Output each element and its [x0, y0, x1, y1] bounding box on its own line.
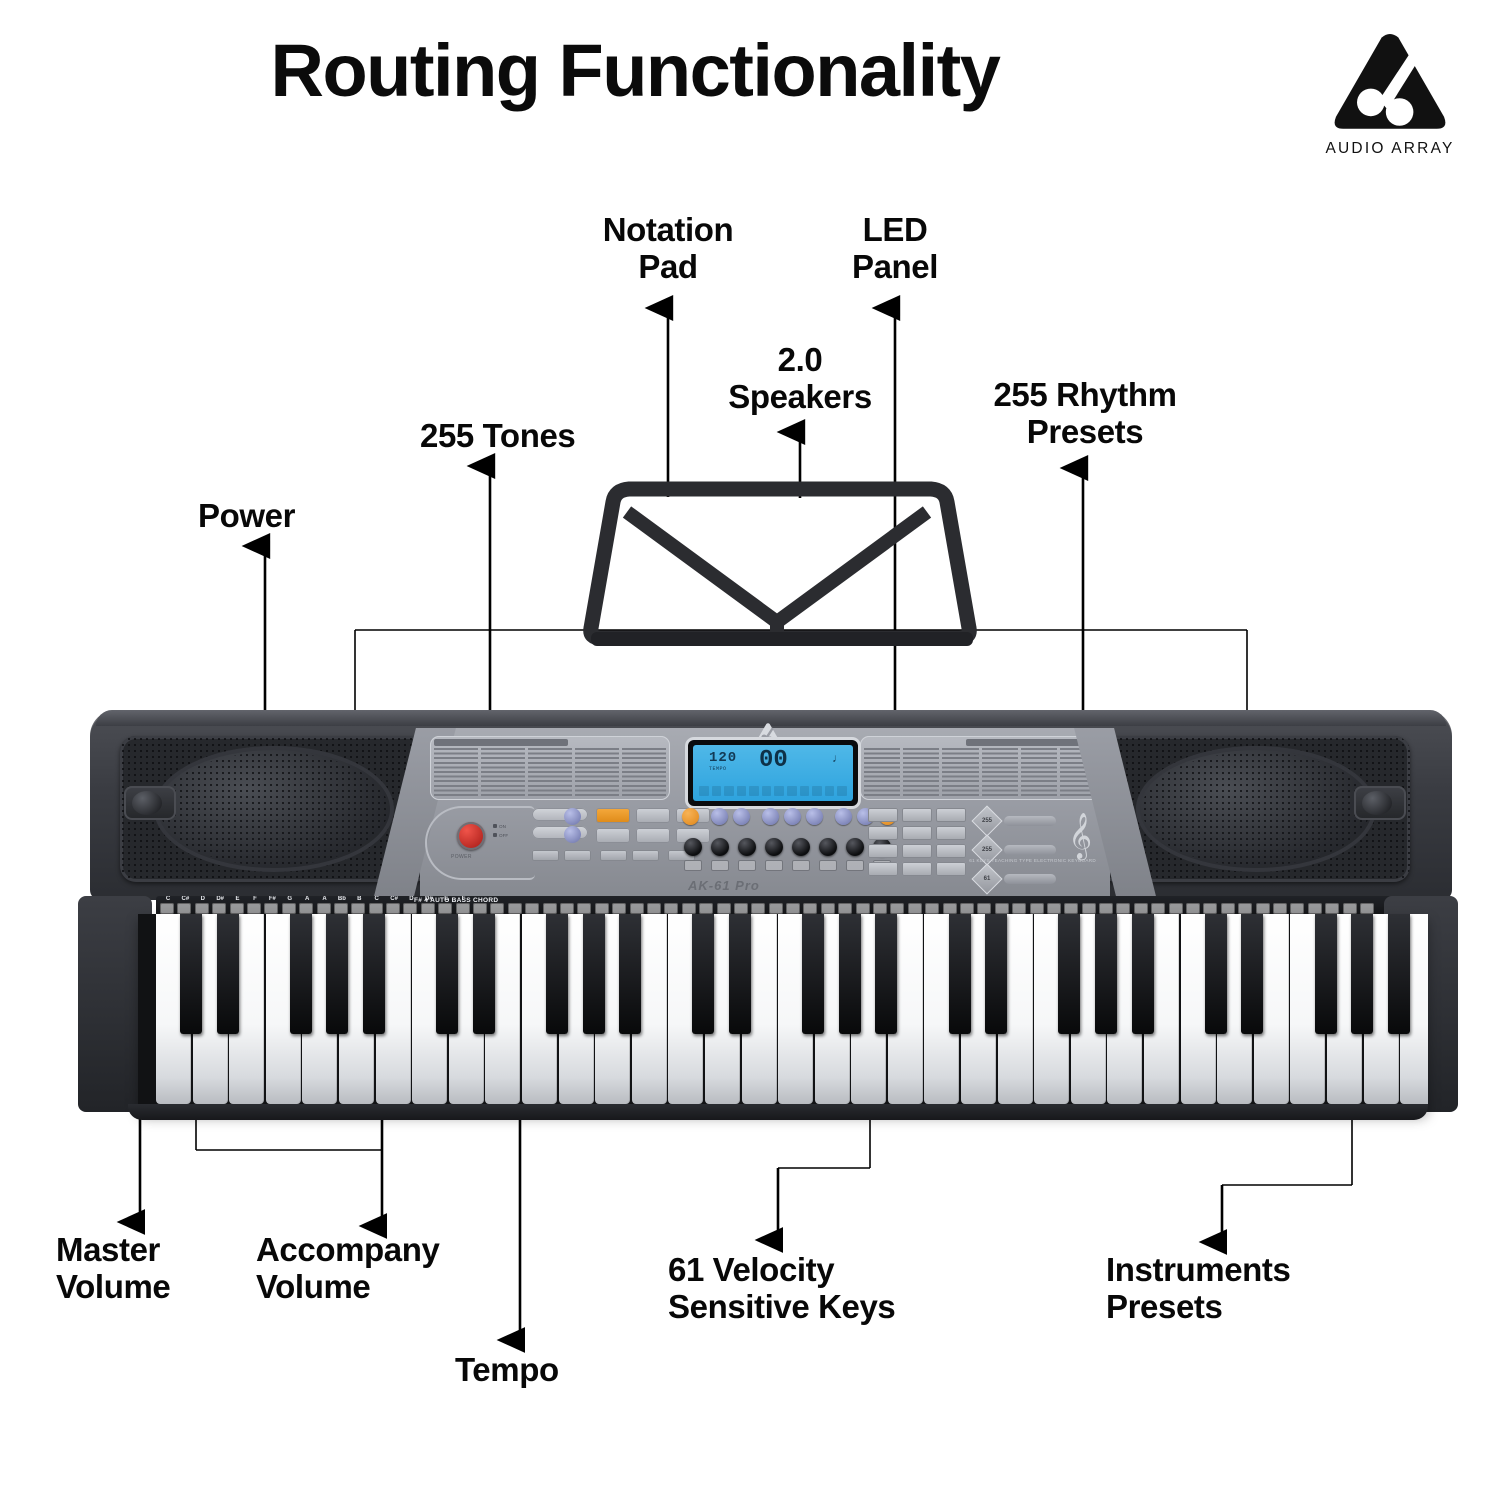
chord-icon: [977, 903, 991, 914]
chord-icon: [403, 903, 417, 914]
keypad-button[interactable]: [936, 862, 966, 876]
chord-icon: [1256, 903, 1270, 914]
chord-icon: [699, 903, 713, 914]
keyboard-body: AUDIO ARRAY 120 TEMPO 00 ♩: [90, 710, 1452, 900]
power-button-label: POWER: [451, 854, 472, 860]
chord-icon: [1030, 903, 1044, 914]
chord-icon: [890, 903, 904, 914]
chord-icon: [664, 903, 678, 914]
black-key[interactable]: [729, 914, 751, 1034]
led-panel-display: 120 TEMPO 00 ♩: [688, 740, 858, 806]
chord-icon: [264, 903, 278, 914]
black-key[interactable]: [180, 914, 202, 1034]
keypad-button[interactable]: [936, 844, 966, 858]
chord-icon: [1360, 903, 1374, 914]
chord-icon: [943, 903, 957, 914]
keypad-button[interactable]: [902, 826, 932, 840]
chord-icon: [1134, 903, 1148, 914]
chord-icon: [873, 903, 887, 914]
chord-icon: [751, 903, 765, 914]
lcd-segment-bars: [699, 786, 847, 796]
round-button-1[interactable]: [711, 808, 728, 825]
chord-icon: [630, 903, 644, 914]
keypad-button[interactable]: [868, 844, 898, 858]
chord-icon: [1047, 903, 1061, 914]
treble-clef-icon: 𝄞: [1068, 816, 1092, 856]
black-knob-3[interactable]: [738, 838, 756, 856]
black-key[interactable]: [436, 914, 458, 1034]
callout-power: Power: [198, 498, 295, 535]
callout-accompany-volume: Accompany Volume: [256, 1232, 439, 1306]
chord-icon: [577, 903, 591, 914]
black-key[interactable]: [1388, 914, 1410, 1034]
keyboard-base: [128, 1104, 1428, 1120]
black-knob-2[interactable]: [711, 838, 729, 856]
black-key[interactable]: [949, 914, 971, 1034]
knob-icon-6: [819, 860, 837, 871]
black-key[interactable]: [583, 914, 605, 1034]
rhythm-list-panel: [860, 736, 1100, 800]
black-knob-6[interactable]: [819, 838, 837, 856]
chord-icon: [1151, 903, 1165, 914]
master-volume-slider[interactable]: [532, 808, 588, 821]
chord-icon: [1203, 903, 1217, 914]
tempo-button-1[interactable]: [532, 850, 559, 861]
black-knob-row: [684, 838, 891, 856]
feature-badges: 255 255 61: [976, 810, 1056, 897]
chord-icon: [1343, 903, 1357, 914]
tempo-button-3[interactable]: [600, 850, 627, 861]
chord-icon: [177, 903, 191, 914]
keypad-button[interactable]: [868, 808, 898, 822]
power-button[interactable]: [457, 822, 485, 850]
accompany-volume-slider[interactable]: [532, 826, 588, 839]
callout-notation-pad: Notation Pad: [558, 212, 778, 286]
audio-array-logo-icon: [1330, 28, 1450, 136]
chord-icon: [1169, 903, 1183, 914]
black-knob-4[interactable]: [765, 838, 783, 856]
chord-icon: [508, 903, 522, 914]
chord-icon: [334, 903, 348, 914]
chord-icon: [1273, 903, 1287, 914]
chord-icon: [769, 903, 783, 914]
metronome-icon: ♩: [832, 751, 844, 765]
chord-icon: [1012, 903, 1026, 914]
round-button-3[interactable]: [762, 808, 779, 825]
lcd-number-value: 00: [759, 747, 788, 774]
knob-icon-3: [738, 860, 756, 871]
chord-icon: [717, 903, 731, 914]
black-key[interactable]: [839, 914, 861, 1034]
model-name: AK-61 Pro: [688, 878, 760, 893]
chord-icon: [682, 903, 696, 914]
chord-icon: [247, 903, 261, 914]
chord-icon: [856, 903, 870, 914]
black-key[interactable]: [363, 914, 385, 1034]
callout-255-rhythm-presets: 255 Rhythm Presets: [940, 377, 1230, 451]
chord-icon: [230, 903, 244, 914]
keypad-button[interactable]: [902, 862, 932, 876]
black-knob-5[interactable]: [792, 838, 810, 856]
speaker-driver-left: [154, 746, 394, 872]
black-key[interactable]: [802, 914, 824, 1034]
keypad-button[interactable]: [868, 826, 898, 840]
keyboard-product-image: AUDIO ARRAY 120 TEMPO 00 ♩: [78, 700, 1458, 1150]
callout-2-0-speakers: 2.0 Speakers: [690, 342, 910, 416]
black-key[interactable]: [1058, 914, 1080, 1034]
chord-icon: [803, 903, 817, 914]
keypad-button[interactable]: [902, 808, 932, 822]
knob-icon-1: [684, 860, 702, 871]
speaker-knob-left[interactable]: [124, 786, 176, 820]
callout-tempo: Tempo: [455, 1352, 559, 1389]
black-key[interactable]: [290, 914, 312, 1034]
black-key[interactable]: [875, 914, 897, 1034]
function-button-4[interactable]: [636, 828, 670, 843]
lcd-tempo-value: 120 TEMPO: [709, 750, 737, 772]
tone-list-panel: [430, 736, 670, 800]
keypad-button[interactable]: [902, 844, 932, 858]
function-button-3[interactable]: [596, 828, 630, 843]
control-panel: AUDIO ARRAY 120 TEMPO 00 ♩: [420, 728, 1110, 904]
chord-icon: [421, 903, 435, 914]
chord-icon: [212, 903, 226, 914]
chord-icon: [282, 903, 296, 914]
black-knob-7[interactable]: [846, 838, 864, 856]
chord-icon: [925, 903, 939, 914]
chord-icon: [351, 903, 365, 914]
black-key[interactable]: [326, 914, 348, 1034]
round-button-6[interactable]: [835, 808, 852, 825]
chord-icon: [838, 903, 852, 914]
chord-icon: [1290, 903, 1304, 914]
black-key[interactable]: [619, 914, 641, 1034]
black-key[interactable]: [692, 914, 714, 1034]
brand-logo-text: AUDIO ARRAY: [1300, 140, 1480, 158]
black-key[interactable]: [546, 914, 568, 1034]
round-button-4[interactable]: [784, 808, 801, 825]
chord-icon: [908, 903, 922, 914]
chord-icon: [438, 903, 452, 914]
chord-icon: [490, 903, 504, 914]
chord-icon: [1064, 903, 1078, 914]
chord-icon: [1099, 903, 1113, 914]
tempo-button-2[interactable]: [564, 850, 591, 861]
round-button-row: [682, 808, 896, 825]
lcd-tempo-label: TEMPO: [709, 766, 737, 772]
black-key[interactable]: [1095, 914, 1117, 1034]
callout-61-velocity-keys: 61 Velocity Sensitive Keys: [668, 1252, 895, 1326]
chord-icon: [821, 903, 835, 914]
chord-icon: [1308, 903, 1322, 914]
numeric-keypad: [868, 808, 966, 876]
keypad-button[interactable]: [936, 808, 966, 822]
callout-led-panel: LED Panel: [790, 212, 1000, 286]
function-button-orange[interactable]: [596, 808, 630, 823]
volume-sliders: [532, 810, 588, 846]
chord-icon: [195, 903, 209, 914]
chord-icon: [1186, 903, 1200, 914]
power-on-off-indicators: ON OFF: [493, 822, 508, 840]
chord-icon: [786, 903, 800, 914]
knob-icon-7: [846, 860, 864, 871]
black-key[interactable]: [217, 914, 239, 1034]
chord-icon: [1116, 903, 1130, 914]
chord-diagram-icons: [160, 903, 1374, 914]
black-key[interactable]: [1241, 914, 1263, 1034]
chord-icon: [1221, 903, 1235, 914]
knob-icon-5: [792, 860, 810, 871]
black-key[interactable]: [1205, 914, 1227, 1034]
chord-icon: [612, 903, 626, 914]
chord-icon: [560, 903, 574, 914]
chord-icon: [317, 903, 331, 914]
function-button-1[interactable]: [636, 808, 670, 823]
chord-icon: [1325, 903, 1339, 914]
chord-icon: [960, 903, 974, 914]
chord-icon: [543, 903, 557, 914]
feature-badge: 255: [976, 810, 1056, 832]
chord-icon: [595, 903, 609, 914]
black-key[interactable]: [1351, 914, 1373, 1034]
round-button-orange-left[interactable]: [682, 808, 699, 825]
black-key[interactable]: [473, 914, 495, 1034]
round-button-2[interactable]: [733, 808, 750, 825]
chord-icon: [369, 903, 383, 914]
chord-icon: [386, 903, 400, 914]
chord-icon: [1238, 903, 1252, 914]
speaker-knob-right[interactable]: [1354, 786, 1406, 820]
keypad-button[interactable]: [936, 826, 966, 840]
chord-icon: [473, 903, 487, 914]
brand-logo: AUDIO ARRAY: [1300, 28, 1480, 158]
chord-icon: [1082, 903, 1096, 914]
knob-icon-2: [711, 860, 729, 871]
feature-badge: 61: [976, 868, 1056, 890]
chord-icon: [160, 903, 174, 914]
black-knob-1[interactable]: [684, 838, 702, 856]
chord-icon: [734, 903, 748, 914]
black-key[interactable]: [1315, 914, 1337, 1034]
power-section: POWER ON OFF: [425, 806, 535, 880]
callout-master-volume: Master Volume: [56, 1232, 170, 1306]
black-key[interactable]: [985, 914, 1007, 1034]
chord-icon: [647, 903, 661, 914]
clef-caption: 61 KEYS TEACHING TYPE ELECTRONIC KEYBOAR…: [969, 858, 1096, 864]
knob-icon-row: [684, 860, 891, 871]
tempo-button-4[interactable]: [632, 850, 659, 861]
knob-icon-4: [765, 860, 783, 871]
callout-255-tones: 255 Tones: [420, 418, 575, 455]
chord-icon: [995, 903, 1009, 914]
notation-pad: [555, 480, 1005, 705]
chord-icon: [299, 903, 313, 914]
page-title: Routing Functionality: [0, 34, 1270, 108]
black-key[interactable]: [1132, 914, 1154, 1034]
callout-instruments-presets: Instruments Presets: [1106, 1252, 1290, 1326]
keypad-button[interactable]: [868, 862, 898, 876]
round-button-5[interactable]: [806, 808, 823, 825]
chord-icon: [525, 903, 539, 914]
speaker-driver-right: [1136, 746, 1376, 872]
auto-bass-chord-label: F# 4 AUTO BASS CHORD: [414, 897, 498, 904]
chord-icon: [456, 903, 470, 914]
keybed: [138, 914, 1428, 1112]
